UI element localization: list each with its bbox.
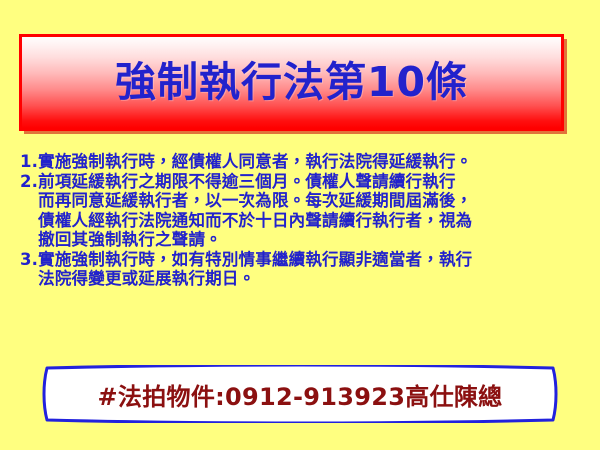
list-item-line: 前項延緩執行之期限不得逾三個月。債權人聲請續行執行 — [38, 172, 456, 191]
list-item-line: 撤回其強制執行之聲請。 — [38, 230, 222, 249]
contact-callout-box: #法拍物件:0912-913923高仕陳總 — [33, 365, 567, 423]
list-item-number: 3. — [20, 250, 38, 270]
page-title: 強制執行法第10條 — [115, 62, 468, 103]
contact-text: #法拍物件:0912-913923高仕陳總 — [33, 365, 567, 423]
article-clause-list: 1. 實施強制執行時，經債權人同意者，執行法院得延緩執行。 2. 前項延緩執行之… — [20, 152, 582, 289]
list-item: 1. 實施強制執行時，經債權人同意者，執行法院得延緩執行。 — [20, 152, 582, 172]
list-item: 2. 前項延緩執行之期限不得逾三個月。債權人聲請續行執行 而再同意延緩執行者，以… — [20, 172, 582, 250]
list-item: 3. 實施強制執行時，如有特別情事繼續執行顯非適當者，執行 法院得變更或延展執行… — [20, 250, 582, 289]
list-item-line: 債權人經執行法院通知而不於十日內聲請續行執行者，視為 — [38, 211, 472, 230]
list-item-text: 實施強制執行時，如有特別情事繼續執行顯非適當者，執行 法院得變更或延展執行期日。 — [38, 250, 582, 289]
list-item-line: 而再同意延緩執行者，以一次為限。每次延緩期間屆滿後， — [38, 191, 472, 210]
list-item-line: 實施強制執行時，如有特別情事繼續執行顯非適當者，執行 — [38, 250, 472, 269]
list-item-text: 前項延緩執行之期限不得逾三個月。債權人聲請續行執行 而再同意延緩執行者，以一次為… — [38, 172, 582, 250]
slide-canvas: 強制執行法第10條 1. 實施強制執行時，經債權人同意者，執行法院得延緩執行。 … — [0, 0, 600, 450]
title-banner: 強制執行法第10條 — [19, 34, 564, 131]
list-item-number: 1. — [20, 152, 38, 172]
list-item-number: 2. — [20, 172, 38, 192]
list-item-line: 法院得變更或延展執行期日。 — [38, 269, 255, 288]
list-item-line: 實施強制執行時，經債權人同意者，執行法院得延緩執行。 — [38, 152, 472, 171]
list-item-text: 實施強制執行時，經債權人同意者，執行法院得延緩執行。 — [38, 152, 582, 172]
